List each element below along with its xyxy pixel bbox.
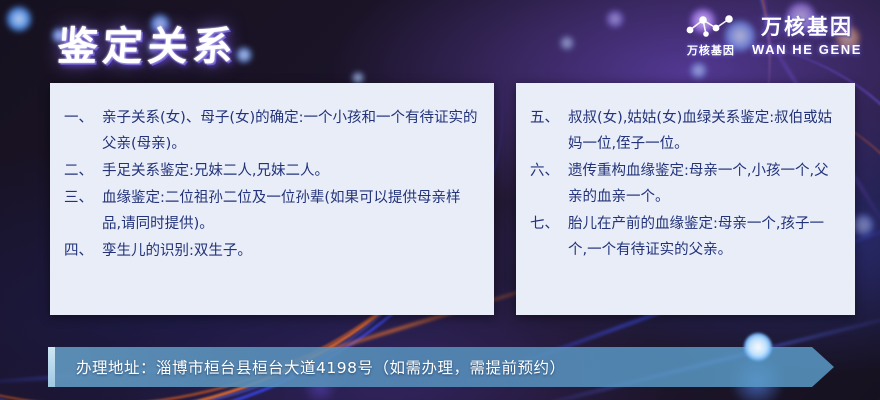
bokeh-12	[560, 36, 574, 50]
list-item: 六、 遗传重构血缘鉴定:母亲一个,小孩一个,父亲的血亲一个。	[530, 158, 839, 210]
bokeh-13	[690, 62, 707, 79]
address-text: 办理地址：淄博市桓台县桓台大道4198号（如需办理，需提前预约）	[76, 356, 565, 378]
bokeh-1	[6, 6, 32, 32]
bokeh-5	[236, 47, 252, 63]
list-item: 七、 胎儿在产前的血缘鉴定:母亲一个,孩子一个,一个有待证实的父亲。	[530, 211, 839, 263]
list-item-text: 叔叔(女),姑姑(女)血绿关系鉴定:叔伯或姑妈一位,侄子一位。	[568, 105, 839, 157]
list-item: 二、 手足关系鉴定:兄妹二人,兄妹二人。	[64, 158, 478, 184]
address-bar-left-accent	[48, 347, 55, 387]
content-panels: 一、 亲子关系(女)、母子(女)的确定:一个小孩和一个有待证实的父亲(母亲)。 …	[50, 83, 855, 315]
list-item-number: 三、	[64, 185, 102, 237]
list-item-text: 胎儿在产前的血缘鉴定:母亲一个,孩子一个,一个有待证实的父亲。	[568, 211, 839, 263]
list-item-number: 一、	[64, 105, 102, 157]
list-item: 五、 叔叔(女),姑姑(女)血绿关系鉴定:叔伯或姑妈一位,侄子一位。	[530, 105, 839, 157]
relationship-list-panel-left: 一、 亲子关系(女)、母子(女)的确定:一个小孩和一个有待证实的父亲(母亲)。 …	[50, 83, 494, 315]
logo-mark-label: 万核基因	[687, 42, 735, 58]
list-item-text: 血缘鉴定:二位祖孙二位及一位孙辈(如果可以提供母亲样品,请同时提供)。	[102, 185, 478, 237]
molecule-network-icon	[682, 10, 740, 40]
logo-mark: 万核基因	[682, 10, 740, 58]
list-item: 三、 血缘鉴定:二位祖孙二位及一位孙辈(如果可以提供母亲样品,请同时提供)。	[64, 185, 478, 237]
list-item-number: 四、	[64, 238, 102, 264]
logo-name-en: WAN HE GENE	[752, 42, 862, 57]
list-item: 四、 孪生儿的识别:双生子。	[64, 238, 478, 264]
list-item-text: 遗传重构血缘鉴定:母亲一个,小孩一个,父亲的血亲一个。	[568, 158, 839, 210]
poster-canvas: 鉴定关系	[0, 0, 880, 400]
bokeh-11	[606, 10, 624, 28]
list-item-text: 亲子关系(女)、母子(女)的确定:一个小孩和一个有待证实的父亲(母亲)。	[102, 105, 478, 157]
logo-wordmark: 万核基因 WAN HE GENE	[752, 11, 862, 57]
list-item-number: 七、	[530, 211, 568, 263]
relationship-list-panel-right: 五、 叔叔(女),姑姑(女)血绿关系鉴定:叔伯或姑妈一位,侄子一位。 六、 遗传…	[516, 83, 855, 315]
bokeh-16	[852, 214, 874, 236]
address-bar: 办理地址：淄博市桓台县桓台大道4198号（如需办理，需提前预约）	[48, 347, 834, 387]
list-item-number: 六、	[530, 158, 568, 210]
list-item-text: 孪生儿的识别:双生子。	[102, 238, 478, 264]
brand-logo[interactable]: 万核基因 万核基因 WAN HE GENE	[682, 10, 862, 58]
list-item-number: 二、	[64, 158, 102, 184]
list-item-number: 五、	[530, 105, 568, 157]
logo-name-cn: 万核基因	[761, 11, 853, 41]
page-title: 鉴定关系	[56, 14, 240, 72]
list-item: 一、 亲子关系(女)、母子(女)的确定:一个小孩和一个有待证实的父亲(母亲)。	[64, 105, 478, 157]
bokeh-bar-highlight	[744, 333, 772, 361]
address-bar-body: 办理地址：淄博市桓台县桓台大道4198号（如需办理，需提前预约）	[48, 347, 834, 387]
list-item-text: 手足关系鉴定:兄妹二人,兄妹二人。	[102, 158, 478, 184]
